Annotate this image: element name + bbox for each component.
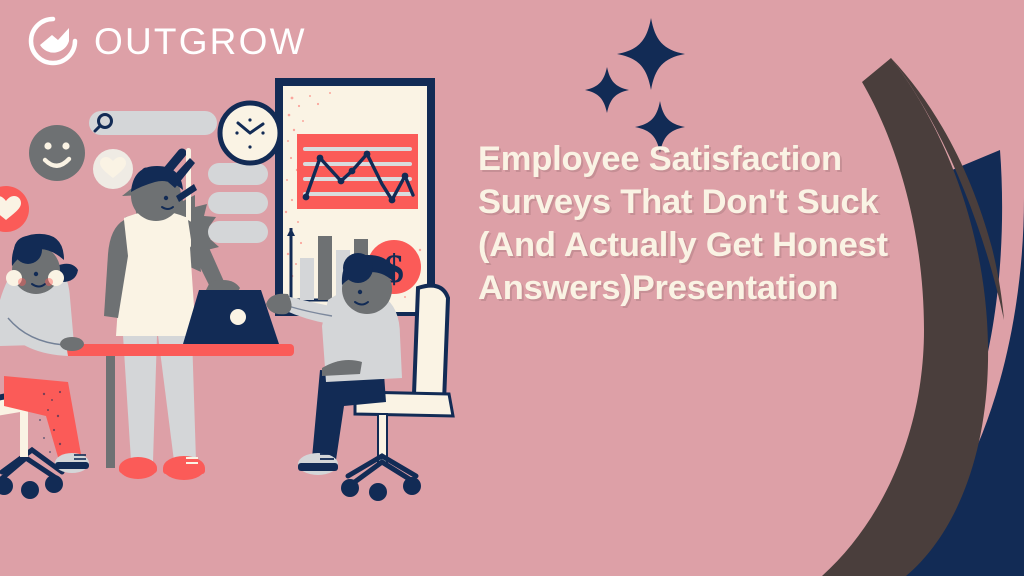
presentation-board: $ (275, 78, 435, 316)
magnifier-icon (95, 115, 112, 132)
search-bar (89, 111, 217, 135)
line-chart (297, 134, 418, 209)
brand-logo[interactable]: OUTGROW (26, 14, 307, 68)
checkmark-icon (146, 153, 182, 183)
slide-title: Employee Satisfaction Surveys That Don't… (478, 138, 908, 310)
laptop-icon (183, 290, 279, 344)
brand-logo-text: OUTGROW (94, 23, 307, 60)
list-items (208, 163, 268, 243)
heart-icon-red (0, 186, 29, 232)
sparkle-large-icon (617, 18, 685, 90)
money-badge: $ (367, 240, 421, 294)
comment-burst-icon (121, 187, 220, 281)
sparkle-small-icon (585, 67, 629, 113)
outgrow-logo-icon (26, 14, 80, 68)
svg-text:$: $ (384, 246, 404, 291)
desk (64, 344, 294, 468)
presentation-slide: $ (0, 0, 1024, 576)
brown-blade-shape (822, 58, 988, 576)
smiley-face-icon (29, 125, 85, 181)
person-seated-right (266, 253, 453, 501)
divider-line (186, 148, 191, 248)
person-seated-left (0, 234, 89, 499)
clock-icon (220, 103, 280, 163)
person-standing-center (104, 158, 240, 480)
heart-icon-white (93, 149, 133, 189)
office-chair-left (0, 382, 68, 499)
bar-chart (287, 228, 368, 300)
